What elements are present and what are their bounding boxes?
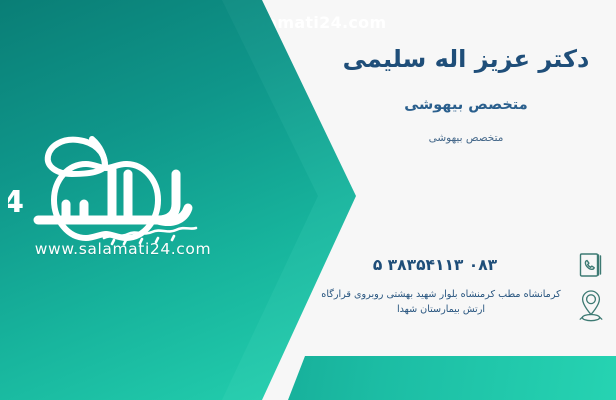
- phonebook-icon: [574, 248, 608, 282]
- phone-number[interactable]: ۵ ۳۸۳۵۴۱۱۳ ۰۸۳: [318, 256, 570, 274]
- business-card: 24 www.salamati24.com دکتر عزیز اله سلیم…: [0, 0, 616, 400]
- logo-badge-24: 24: [8, 185, 24, 220]
- location-pin-icon: [574, 286, 608, 330]
- logo-website-text: www.salamati24.com: [8, 240, 238, 258]
- salamati24-logo-icon: 24: [8, 112, 238, 252]
- address-row: کرمانشاه مطب کرمنشاه بلوار شهید بهشتی رو…: [308, 286, 608, 330]
- clinic-address: کرمانشاه مطب کرمنشاه بلوار شهید بهشتی رو…: [308, 286, 572, 318]
- doctor-specialty-secondary: متخصص بیهوشی: [334, 132, 598, 144]
- doctor-specialty-primary: متخصص بیهوشی: [334, 97, 598, 113]
- info-panel: دکتر عزیز اله سلیمی متخصص بیهوشی متخصص ب…: [316, 0, 616, 400]
- address-line-2: بیمارستان شهدا: [397, 304, 460, 315]
- doctor-name: دکتر عزیز اله سلیمی: [334, 44, 598, 75]
- phone-row: ۵ ۳۸۳۵۴۱۱۳ ۰۸۳: [318, 248, 608, 282]
- brand-logo: 24 www.salamati24.com: [8, 112, 238, 277]
